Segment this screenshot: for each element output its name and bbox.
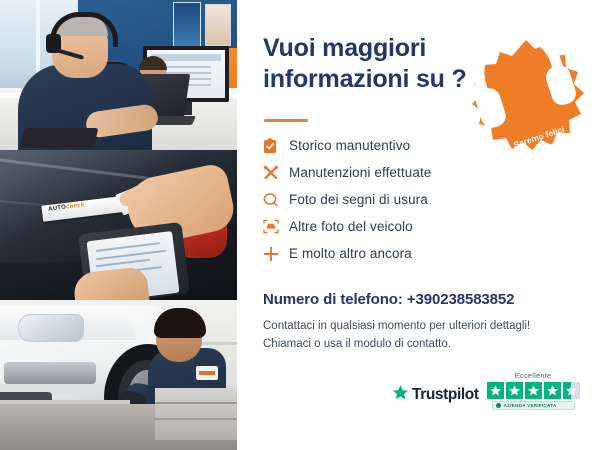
accent-divider — [264, 119, 308, 122]
call-center-agents-photo — [0, 0, 237, 150]
star-filled — [487, 382, 504, 399]
wall-poster — [173, 2, 201, 48]
car-headlight — [18, 314, 84, 342]
star-filled — [525, 382, 542, 399]
photo-column: AUTOcheck — [0, 0, 237, 450]
feature-item-storico-manutentivo: Storico manutentivo — [263, 132, 583, 159]
feature-item-altre-foto-veicolo: Altre foto del veicolo — [263, 213, 583, 240]
mechanic-wheel-photo — [0, 300, 237, 450]
feature-label: Altre foto del veicolo — [289, 219, 413, 234]
star-half — [563, 382, 580, 399]
contact-instructions: Contattaci in qualsiasi momento per ulte… — [263, 318, 530, 354]
trustpilot-star-icon — [392, 384, 409, 406]
star-rating — [487, 382, 580, 399]
trustpilot-logo: Trustpilot — [392, 384, 479, 410]
sticker-on-car-photo: AUTOcheck — [0, 150, 237, 300]
feature-item-foto-segni-usura: Foto dei segni di usura — [263, 186, 583, 213]
feature-label: Storico manutentivo — [289, 138, 410, 153]
trustpilot-rating-block: Eccellente — [487, 371, 580, 410]
tools-cross-icon — [263, 165, 289, 181]
page-title: Vuoi maggiori informazioni su ? — [263, 33, 473, 94]
plus-icon — [263, 246, 289, 262]
feature-label: Manutenzioni effettuate — [289, 165, 431, 180]
feature-list: Storico manutentivo Manutenzioni effettu… — [263, 132, 583, 267]
car-lower-grille — [4, 362, 96, 384]
verified-check-icon — [496, 403, 501, 408]
trustpilot-wordmark: Trustpilot — [412, 386, 479, 404]
verified-business-badge: AZIENDA VERIFICATA — [492, 401, 575, 410]
star-filled — [506, 382, 523, 399]
trustpilot-widget[interactable]: Trustpilot Eccellente — [392, 371, 580, 410]
feature-item-molto-altro: E molto altro ancora — [263, 240, 583, 267]
magnifier-icon — [263, 192, 289, 208]
content-panel: Vuoi maggiori informazioni su ? Saremo f… — [237, 0, 600, 450]
feature-item-manutenzioni-effettuate: Manutenzioni effettuate — [263, 159, 583, 186]
wall-poster-secondary — [205, 4, 231, 46]
headline-line-2: informazioni su ? — [263, 64, 473, 95]
star-filled — [544, 382, 561, 399]
verified-label: AZIENDA VERIFICATA — [504, 403, 557, 408]
headline-line-1: Vuoi maggiori — [263, 33, 473, 64]
feature-label: E molto altro ancora — [289, 246, 412, 261]
rating-label: Eccellente — [515, 371, 552, 380]
car-frame-icon — [263, 219, 289, 234]
feature-label: Foto dei segni di usura — [289, 192, 428, 207]
desk-tablet — [20, 128, 99, 148]
contact-line-2: Chiamaci o usa il modulo di contatto. — [263, 336, 530, 354]
advertisement-banner: AUTOcheck — [0, 0, 600, 450]
phone-number[interactable]: Numero di telefono: +390238583852 — [263, 291, 514, 308]
uniform-logo-patch — [196, 366, 218, 380]
contact-line-1: Contattaci in qualsiasi momento per ulte… — [263, 318, 530, 336]
clipboard-check-icon — [263, 138, 289, 154]
tool-cabinet — [155, 388, 237, 440]
